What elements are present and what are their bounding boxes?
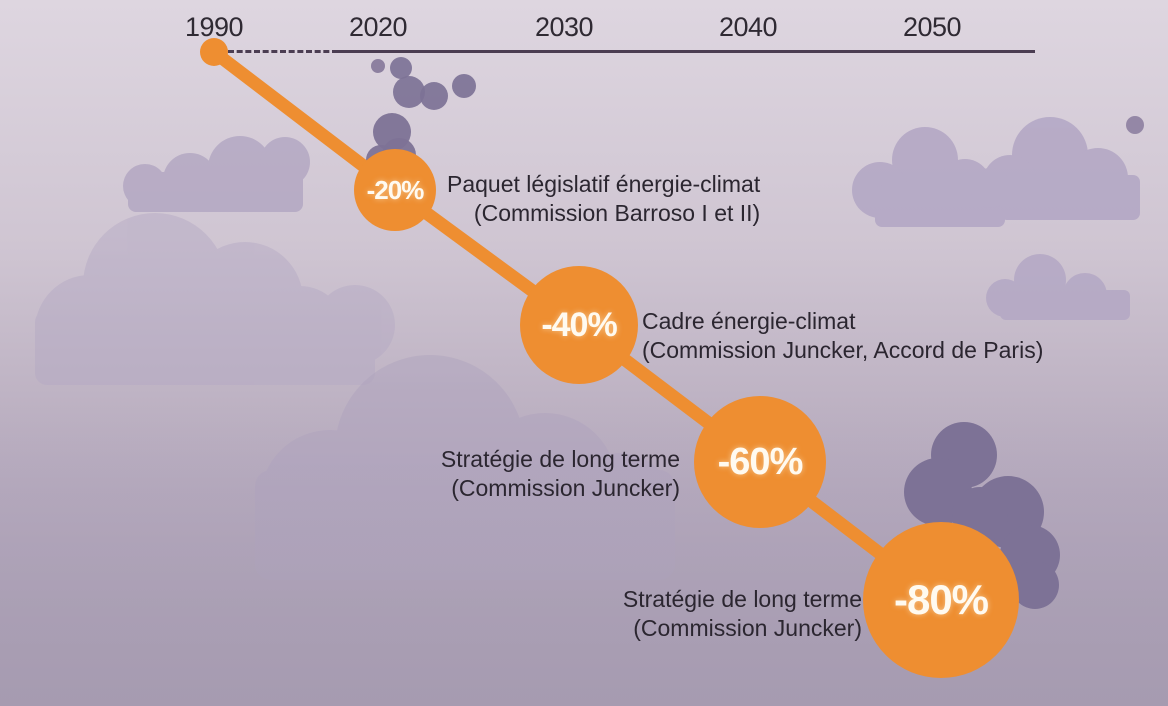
milestone-value-80: -80%: [894, 576, 988, 624]
milestone-caption-40: Cadre énergie-climat (Commission Juncker…: [642, 307, 1043, 364]
milestone-title-40: Cadre énergie-climat: [642, 308, 855, 334]
axis-tick-label-2030: 2030: [535, 12, 593, 43]
axis-tick-label-1990: 1990: [185, 12, 243, 43]
milestone-subtitle-60: (Commission Juncker): [441, 474, 680, 503]
milestone-value-60: -60%: [718, 441, 803, 484]
milestone-caption-60: Stratégie de long terme (Commission Junc…: [441, 445, 680, 502]
milestone-bubble-40[interactable]: -40%: [520, 266, 638, 384]
emissions-reduction-timeline-infographic: 1990 2020 2030 2040 2050 -20% Paquet lég…: [0, 0, 1168, 706]
milestone-title-60: Stratégie de long terme: [441, 446, 680, 472]
axis-tick-label-2040: 2040: [719, 12, 777, 43]
milestone-title-20: Paquet législatif énergie-climat: [447, 171, 760, 197]
axis-tick-label-2050: 2050: [903, 12, 961, 43]
smoke-puff-small-right: [1126, 116, 1144, 134]
milestone-subtitle-80: (Commission Juncker): [623, 614, 862, 643]
axis-solid-line: [338, 50, 1035, 53]
milestone-title-80: Stratégie de long terme: [623, 586, 862, 612]
milestone-caption-20: Paquet législatif énergie-climat (Commis…: [447, 170, 760, 227]
axis-tick-label-2020: 2020: [349, 12, 407, 43]
milestone-value-40: -40%: [541, 306, 616, 345]
axis-dashed-segment: [228, 50, 338, 53]
milestone-caption-80: Stratégie de long terme (Commission Junc…: [623, 585, 862, 642]
milestone-subtitle-40: (Commission Juncker, Accord de Paris): [642, 336, 1043, 365]
milestone-value-20: -20%: [367, 175, 424, 206]
milestone-bubble-20[interactable]: -20%: [354, 149, 436, 231]
axis-marker-dot-2020: [371, 59, 385, 73]
milestone-bubble-80[interactable]: -80%: [863, 522, 1019, 678]
milestone-subtitle-20: (Commission Barroso I et II): [447, 199, 760, 228]
milestone-bubble-60[interactable]: -60%: [694, 396, 826, 528]
